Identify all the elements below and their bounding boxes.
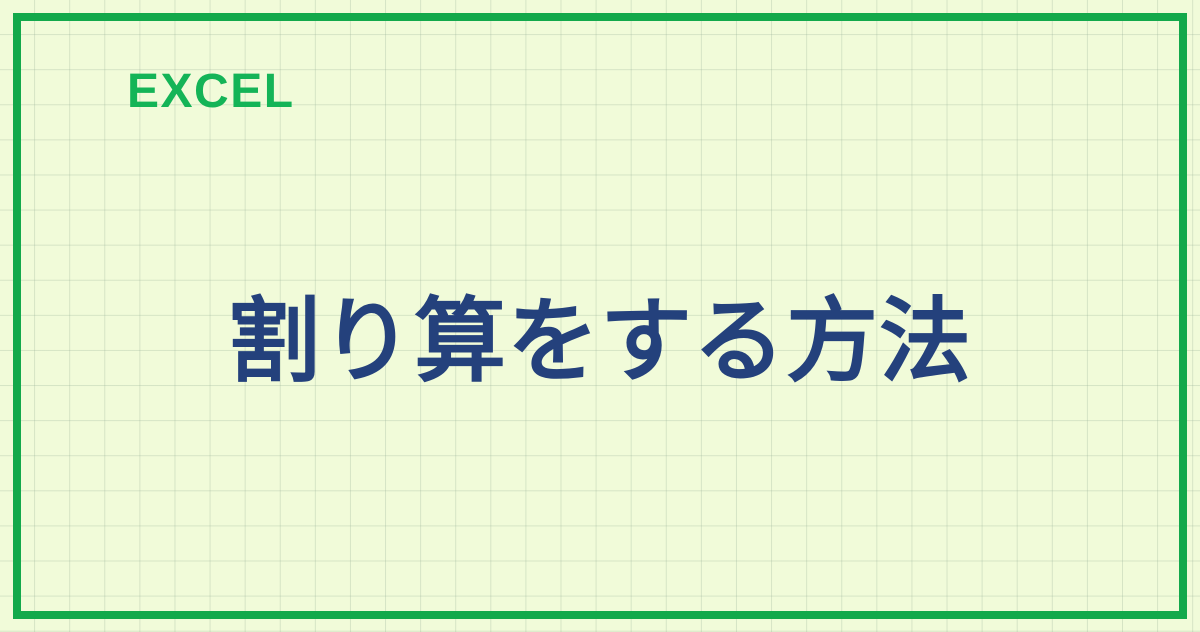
page-title: 割り算をする方法 xyxy=(0,288,1200,397)
thumbnail-canvas: EXCEL 割り算をする方法 xyxy=(0,0,1200,632)
eyebrow-label: EXCEL xyxy=(127,68,295,116)
